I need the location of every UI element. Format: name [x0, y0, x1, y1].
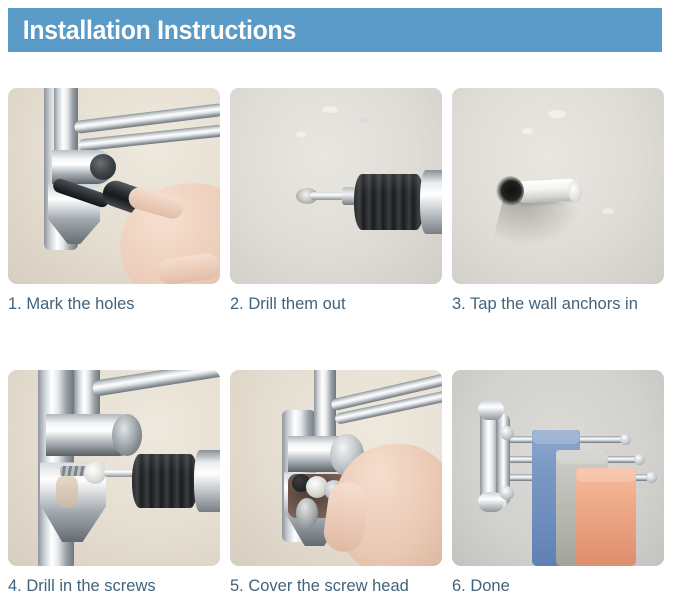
step-caption-2-line1: 2. Drill them out: [230, 295, 346, 313]
towel-fold: [556, 450, 608, 464]
step-cell-2: 2. Drill them out: [230, 88, 442, 314]
wall-speck: [602, 208, 614, 214]
step-caption-6-line1: 6. Done: [452, 577, 510, 592]
steps-grid: 1. Mark the holes: [8, 88, 664, 592]
step-caption-1-line1: 1. Mark the holes: [8, 295, 135, 313]
drill-chuck: [132, 454, 198, 508]
towel-fold: [576, 468, 636, 482]
step-photo-2: [230, 88, 442, 284]
header-banner: Installation Instructions: [8, 8, 662, 52]
drill-clutch-dots: [200, 458, 220, 504]
rack-cap-top: [478, 400, 504, 420]
step-photo-6: [452, 370, 664, 566]
wall-anchor-end: [568, 180, 582, 202]
step-caption-3: 3. Tap the wall anchors in: [452, 294, 664, 314]
towel-fold: [532, 430, 580, 444]
drill-clutch-dots: [426, 178, 442, 226]
wall-speck: [522, 128, 533, 134]
step-caption-6: 6. Done: [452, 576, 664, 592]
step-cell-4: 4. Drill in the screws: [8, 370, 220, 592]
wall-speck: [360, 118, 369, 123]
installation-instructions-page: Installation Instructions: [0, 0, 679, 592]
wall-speck: [548, 110, 566, 118]
step-photo-5: [230, 370, 442, 566]
step-caption-3-line1: 3. Tap the wall anchors in: [452, 295, 638, 313]
step-cell-1: 1. Mark the holes: [8, 88, 220, 314]
step-cell-6: 6. Done: [452, 370, 664, 592]
page-title: Installation Instructions: [8, 17, 296, 44]
step-cell-5: 5. Cover the screw head with screw caps: [230, 370, 442, 592]
bracket-knob-face: [90, 154, 116, 180]
step-photo-3: [452, 88, 664, 284]
step-cell-3: 3. Tap the wall anchors in: [452, 88, 664, 314]
drill-bit: [310, 192, 346, 200]
step-photo-1: [8, 88, 220, 284]
bracket-hook-opening: [56, 474, 78, 508]
step-caption-2: 2. Drill them out: [230, 294, 442, 314]
step-caption-4: 4. Drill in the screws: [8, 576, 220, 592]
step-caption-5-line1: 5. Cover the screw head: [230, 577, 409, 592]
step-photo-4: [8, 370, 220, 566]
step-caption-4-line1: 4. Drill in the screws: [8, 577, 156, 592]
step-caption-5: 5. Cover the screw head with screw caps: [230, 576, 442, 592]
step-caption-1: 1. Mark the holes: [8, 294, 220, 314]
towel-peach: [576, 468, 636, 566]
drill-chuck: [354, 174, 424, 230]
wall-speck: [322, 106, 338, 113]
wall-speck: [296, 132, 306, 137]
